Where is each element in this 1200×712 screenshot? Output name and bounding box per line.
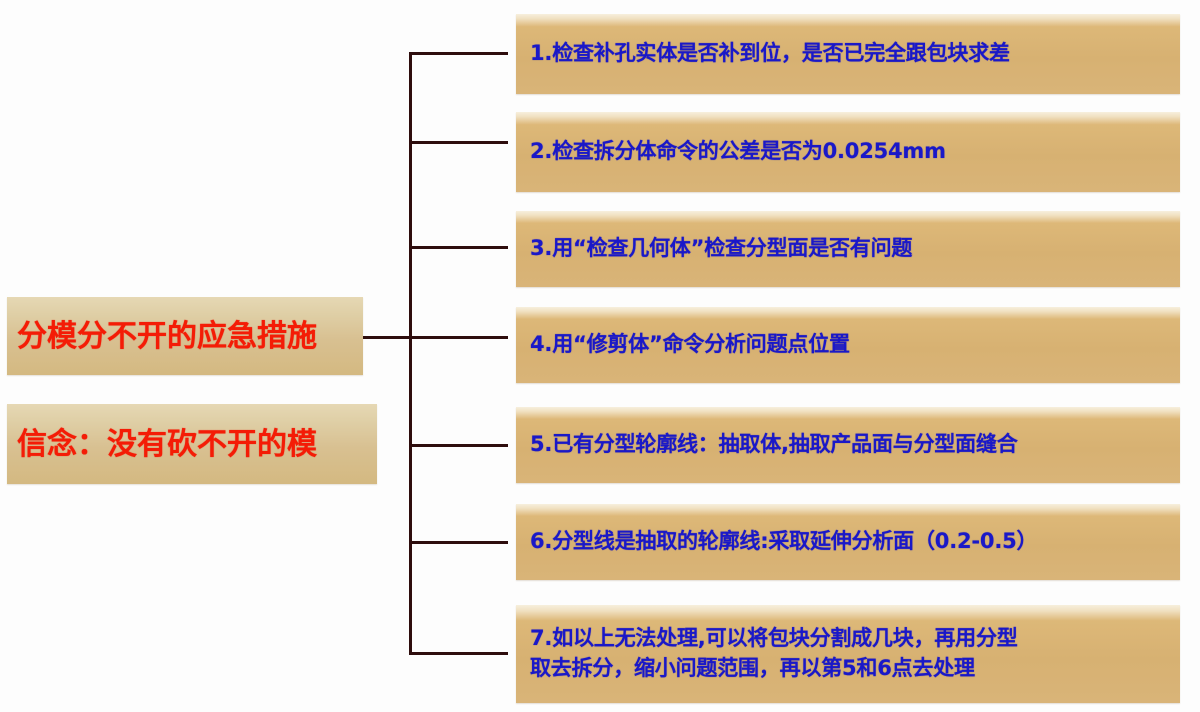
step-box-4[interactable]: 4.用“修剪体”命令分析问题点位置: [516, 307, 1180, 383]
diagram-canvas: 分模分不开的应急措施 信念：没有砍不开的模 1.检查补孔实体是否补到位，是否已完…: [0, 0, 1200, 712]
step-3-text: 3.用“检查几何体”检查分型面是否有问题: [530, 236, 1168, 262]
step-5-text: 5.已有分型轮廓线：抽取体,抽取产品面与分型面缝合: [530, 432, 1168, 458]
connector-branch-3: [409, 246, 508, 249]
connector-branch-2: [409, 141, 508, 144]
step-2-text: 2.检查拆分体命令的公差是否为0.0254mm: [530, 139, 1168, 165]
connector-branch-1: [409, 52, 508, 55]
connector-branch-4: [409, 336, 508, 339]
connector-branch-6: [409, 541, 508, 544]
step-box-3[interactable]: 3.用“检查几何体”检查分型面是否有问题: [516, 211, 1180, 287]
step-box-5[interactable]: 5.已有分型轮廓线：抽取体,抽取产品面与分型面缝合: [516, 407, 1180, 483]
root-motto-text: 信念：没有砍不开的模: [17, 428, 317, 461]
connector-branch-5: [409, 444, 508, 447]
step-box-7[interactable]: 7.如以上无法处理,可以将包块分割成几块，再用分型 取去拆分，缩小问题范围，再以…: [516, 605, 1180, 703]
step-7-text-line-2: 取去拆分，缩小问题范围，再以第5和6点去处理: [530, 656, 1168, 682]
step-box-6[interactable]: 6.分型线是抽取的轮廓线:采取延伸分析面（0.2-0.5）: [516, 504, 1180, 580]
root-title-box[interactable]: 分模分不开的应急措施: [7, 297, 363, 375]
connector-branch-7: [409, 652, 508, 655]
root-motto-box[interactable]: 信念：没有砍不开的模: [7, 404, 377, 484]
step-box-1[interactable]: 1.检查补孔实体是否补到位，是否已完全跟包块求差: [516, 14, 1180, 94]
connector-trunk-to-root: [363, 336, 412, 339]
step-4-text: 4.用“修剪体”命令分析问题点位置: [530, 332, 1168, 358]
step-6-text: 6.分型线是抽取的轮廓线:采取延伸分析面（0.2-0.5）: [530, 529, 1168, 555]
step-1-text: 1.检查补孔实体是否补到位，是否已完全跟包块求差: [530, 41, 1168, 67]
step-box-2[interactable]: 2.检查拆分体命令的公差是否为0.0254mm: [516, 112, 1180, 192]
root-title-text: 分模分不开的应急措施: [17, 320, 317, 353]
step-7-text-line-1: 7.如以上无法处理,可以将包块分割成几块，再用分型: [530, 626, 1168, 652]
